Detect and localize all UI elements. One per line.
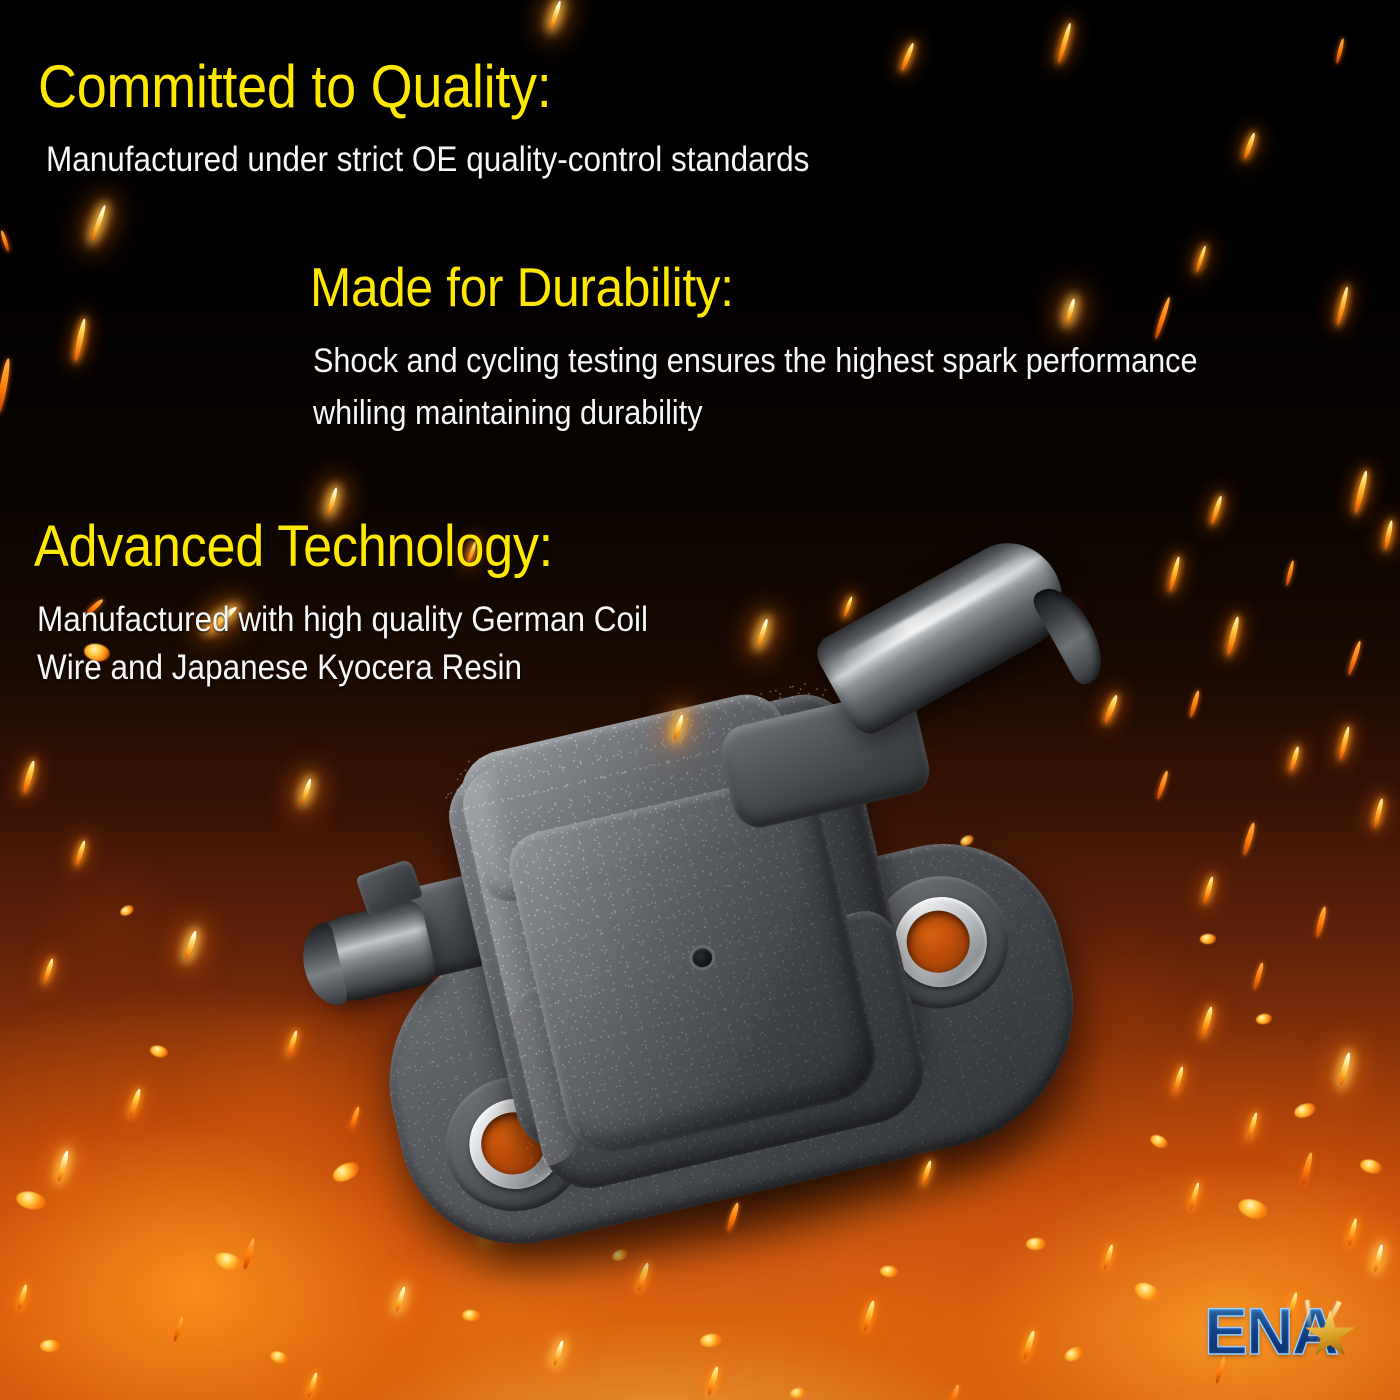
product-feature-banner: Committed to Quality: Manufactured under… <box>0 0 1400 1400</box>
feature-text-durability-line2: whiling maintaining durability <box>313 394 703 433</box>
feature-heading-durability: Made for Durability: <box>310 255 734 319</box>
feature-text-durability-line1: Shock and cycling testing ensures the hi… <box>313 342 1197 381</box>
ena-brand-logo: ENA <box>1204 1296 1364 1370</box>
feature-heading-technology: Advanced Technology: <box>34 513 553 580</box>
feature-text-technology-line2: Wire and Japanese Kyocera Resin <box>37 648 522 688</box>
feature-text-technology-line1: Manufactured with high quality German Co… <box>37 600 648 640</box>
spark-plug-boot-tube <box>810 525 1081 741</box>
feature-heading-quality: Committed to Quality: <box>38 52 552 121</box>
feature-text-quality-line1: Manufactured under strict OE quality-con… <box>46 140 809 180</box>
ignition-coil-product-image <box>300 640 1180 1300</box>
